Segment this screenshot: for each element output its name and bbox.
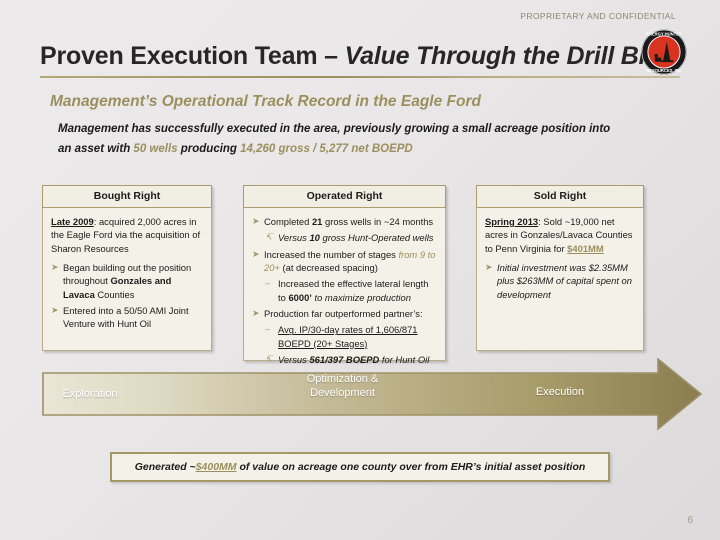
arrow-label-execution: Execution [495, 386, 625, 400]
card1-lead-date: Late 2009 [51, 216, 94, 227]
list-item: ➤Began building out the position through… [51, 261, 204, 301]
bullet-text: Counties [95, 289, 135, 300]
lede-line-2-mid: producing [178, 143, 241, 155]
card-body-bought-right: Late 2009: acquired 2,000 acres in the E… [42, 208, 212, 351]
bullet-text: Entered into a 50/50 AMI Joint Venture w… [63, 305, 189, 329]
bullet-text-bold: 21 [312, 216, 322, 227]
bullet-dash-icon: ↸ [265, 231, 273, 244]
lede-line-1: Management has successfully executed in … [58, 123, 610, 135]
list-item: ➤Production far outperformed partner’s: [252, 307, 438, 320]
section-lede: Management has successfully executed in … [58, 119, 674, 159]
bullet-text: Increased the number of stages [264, 249, 398, 260]
card-bought-right: Bought Right Late 2009: acquired 2,000 a… [42, 185, 212, 351]
list-item: ➤Entered into a 50/50 AMI Joint Venture … [51, 304, 204, 331]
card3-sale-price: $401MM [567, 243, 603, 254]
arrow-label-exploration: Exploration [30, 388, 150, 402]
page-title-italic: Value Through the Drill Bit [345, 42, 654, 70]
lede-production-figure: 14,260 gross / 5,277 net BOEPD [240, 143, 413, 155]
section-subtitle: Management’s Operational Track Record in… [50, 93, 481, 111]
bullet-text: gross wells in ~24 months [322, 216, 433, 227]
bullet-text: Hunt-Operated [348, 232, 410, 243]
bullet-text-italic: Initial investment was $2.35MM plus $263… [497, 262, 632, 300]
page-title: Proven Execution Team – Value Through th… [40, 42, 654, 71]
svg-text:ENERGY HUNTER: ENERGY HUNTER [646, 31, 682, 36]
slide: PROPRIETARY AND CONFIDENTIAL Proven Exec… [0, 0, 720, 540]
bullet-text: Completed [264, 216, 312, 227]
list-item: ↸Versus 10 gross Hunt-Operated wells [252, 231, 438, 244]
bullet-arrow-icon: ➤ [252, 307, 260, 320]
bullet-arrow-icon: ➤ [51, 304, 59, 317]
card3-lead-date: Spring 2013 [485, 216, 538, 227]
list-item: –Avg. IP/30-day rates of 1,606/871 BOEPD… [252, 323, 438, 350]
lede-line-2-pre: an asset with [58, 143, 133, 155]
bullet-dash-icon: – [265, 323, 270, 336]
card3-lead-paragraph: Spring 2013: Sold ~19,000 net acres in G… [485, 215, 636, 255]
confidential-notice: PROPRIETARY AND CONFIDENTIAL [520, 11, 676, 21]
bullet-text-bold: 10 [309, 232, 319, 243]
summary-callout: Generated ~$400MM of value on acreage on… [110, 452, 610, 482]
list-item: –Increased the effective lateral length … [252, 277, 438, 304]
arrow-label-optimization: Optimization & Development [275, 373, 410, 401]
list-item: ➤Increased the number of stages from 9 t… [252, 248, 438, 275]
card1-bullet-list: ➤Began building out the position through… [51, 261, 204, 331]
bullet-arrow-icon: ➤ [51, 261, 59, 274]
card-title-bought-right: Bought Right [42, 185, 212, 208]
card2-bullet-list: ➤Completed 21 gross wells in ~24 months … [252, 215, 438, 366]
lede-wells-count: 50 wells [133, 143, 177, 155]
card-body-operated-right: ➤Completed 21 gross wells in ~24 months … [243, 208, 446, 361]
page-title-main: Proven Execution Team – [40, 42, 345, 70]
arrow-label-optimization-line1: Optimization & [307, 373, 379, 385]
callout-pre: Generated ~ [135, 461, 196, 473]
list-item: ➤Initial investment was $2.35MM plus $26… [485, 261, 636, 301]
bullet-text: Versus [278, 232, 309, 243]
bullet-text: Production far outperformed partner’s: [264, 308, 423, 319]
bullet-dash-icon: – [265, 277, 270, 290]
bullet-text-bold: 6000’ [288, 292, 311, 303]
title-divider [40, 76, 680, 78]
bullet-arrow-icon: ➤ [252, 248, 260, 261]
card-title-sold-right: Sold Right [476, 185, 644, 208]
bullet-arrow-icon: ➤ [485, 261, 493, 274]
card-operated-right: Operated Right ➤Completed 21 gross wells… [243, 185, 446, 361]
summary-callout-text: Generated ~$400MM of value on acreage on… [135, 461, 586, 473]
card-sold-right: Sold Right Spring 2013: Sold ~19,000 net… [476, 185, 644, 351]
callout-value: $400MM [196, 461, 237, 473]
page-number: 6 [687, 515, 693, 526]
callout-post: of value on acreage one county over from… [237, 461, 586, 473]
bullet-arrow-icon: ➤ [252, 215, 260, 228]
svg-text:RESOURCES, INC: RESOURCES, INC [646, 68, 682, 73]
company-logo-icon: ENERGY HUNTER RESOURCES, INC [641, 29, 687, 75]
arrow-label-optimization-line2: Development [310, 387, 375, 399]
bullet-text: (at decreased spacing) [280, 262, 378, 273]
card1-lead-paragraph: Late 2009: acquired 2,000 acres in the E… [51, 215, 204, 255]
bullet-text-underlined: Avg. IP/30-day rates of 1,606/871 BOEPD … [278, 324, 418, 348]
bullet-text: gross [320, 232, 348, 243]
bullet-text-italic: to maximize production [312, 292, 411, 303]
list-item: ➤Completed 21 gross wells in ~24 months [252, 215, 438, 228]
card-body-sold-right: Spring 2013: Sold ~19,000 net acres in G… [476, 208, 644, 351]
card-title-operated-right: Operated Right [243, 185, 446, 208]
card3-bullet-list: ➤Initial investment was $2.35MM plus $26… [485, 261, 636, 301]
bullet-text: wells [410, 232, 433, 243]
